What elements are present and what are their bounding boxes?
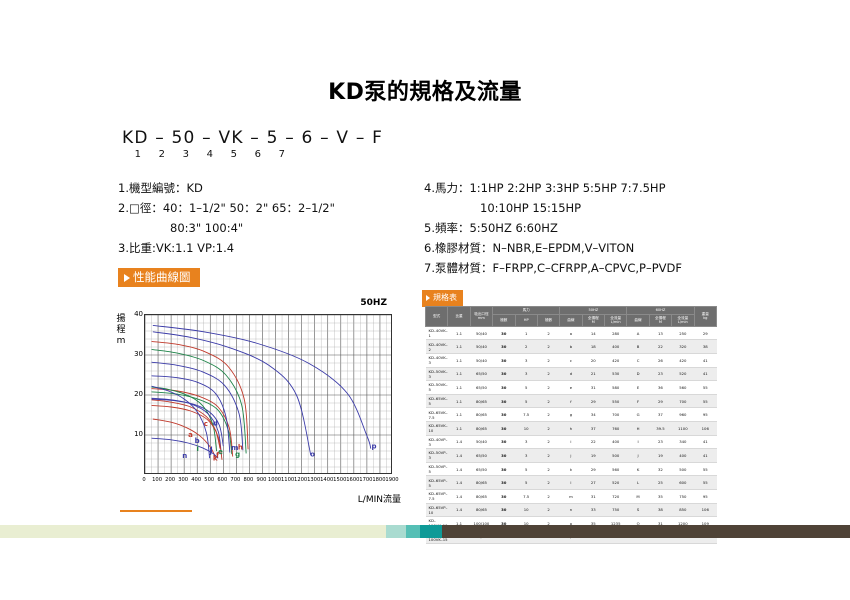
spec-cell: K xyxy=(627,462,649,476)
chart-curve-h xyxy=(152,341,249,449)
spec-cell: 38 xyxy=(649,503,671,517)
spec-cell: 55 xyxy=(694,394,717,408)
x-tick-label: 1000 xyxy=(268,477,282,483)
model-digit: 2 xyxy=(150,149,174,160)
spec-cell: 2 xyxy=(537,367,559,381)
spec-cell: 65/50 xyxy=(470,367,492,381)
curve-label-p: p xyxy=(371,443,376,451)
spec-cell: 340 xyxy=(672,435,694,449)
spec-cell: 400 xyxy=(672,449,694,463)
curve-label-o: o xyxy=(310,451,315,459)
spec-cell: 55 xyxy=(694,476,717,490)
curve-label-n: n xyxy=(182,452,187,460)
spec-subheader-cell: 曲線 xyxy=(560,314,582,326)
y-axis-title-char: 揚 xyxy=(115,314,127,325)
spec-cell: 1.1 xyxy=(448,353,470,367)
x-tick-label: 1900 xyxy=(385,477,399,483)
model-digit: 4 xyxy=(198,149,222,160)
model-digit: 1 xyxy=(126,149,150,160)
curve-label-i: i xyxy=(197,445,199,453)
curve-label-m: m xyxy=(231,444,238,452)
spec-subheader-cell: HP xyxy=(515,314,537,326)
spec-cell: 5 xyxy=(515,381,537,395)
spec-cell: 960 xyxy=(672,408,694,422)
model-digit: 6 xyxy=(246,149,270,160)
spec-cell: 35 xyxy=(649,489,671,503)
spec-cell: 400 xyxy=(605,340,627,354)
spec-cell: 21 xyxy=(582,367,604,381)
curve-label-h: h xyxy=(238,443,243,451)
spec-cell: a xyxy=(560,326,582,340)
spec-cell: 22 xyxy=(582,435,604,449)
footer-bar-teal-mid xyxy=(406,525,420,538)
spec-cell: KD–50VP–3 xyxy=(426,449,448,463)
curve-label-a: a xyxy=(188,431,193,439)
curve-label-d: d xyxy=(213,419,218,427)
spec-cell: KD–40VK–1 xyxy=(426,326,448,340)
x-tick-label: 500 xyxy=(202,477,216,483)
spec-cell: 2 xyxy=(537,503,559,517)
spec-header-cell: 型式 xyxy=(426,307,448,327)
spec-cell: d xyxy=(560,367,582,381)
x-tick-label: 0 xyxy=(137,477,151,483)
spec-cell: 1100 xyxy=(672,421,694,435)
play-triangle-icon xyxy=(124,274,130,282)
x-tick-label: 1600 xyxy=(346,477,360,483)
spec-cell: 27 xyxy=(582,476,604,490)
spec-cell: 520 xyxy=(672,367,694,381)
spec-cell: 2 xyxy=(537,394,559,408)
spec-cell: 720 xyxy=(605,489,627,503)
y-tick-label: 40 xyxy=(134,310,143,318)
curve-label-k: k xyxy=(213,455,218,463)
legend-left-line-2: 2.□徑：40：1–1/2" 50：2" 65：2–1/2" xyxy=(118,198,418,218)
table-row: KD–65VP–7.51.480/65307.52m31720M3575095 xyxy=(426,489,717,503)
spec-cell: i xyxy=(560,435,582,449)
spec-cell: 22 xyxy=(649,340,671,354)
spec-cell: KD–65VP–7.5 xyxy=(426,489,448,503)
spec-cell: A xyxy=(627,326,649,340)
spec-subheader-cell: 全揚程M xyxy=(649,314,671,326)
spec-cell: 5 xyxy=(515,394,537,408)
curve-label-b: b xyxy=(195,437,200,445)
spec-cell: 530 xyxy=(605,367,627,381)
spec-table-badge[interactable]: 規格表 xyxy=(422,290,463,307)
table-row: KD–50VP–51.465/503052k29560K3250055 xyxy=(426,462,717,476)
spec-cell: 2 xyxy=(537,462,559,476)
spec-cell: 26 xyxy=(649,353,671,367)
spec-cell: 30 xyxy=(493,381,515,395)
spec-cell: 10 xyxy=(515,503,537,517)
x-tick-label: 1200 xyxy=(294,477,308,483)
spec-cell: 50/40 xyxy=(470,326,492,340)
spec-cell: M xyxy=(627,489,649,503)
spec-cell: 65/50 xyxy=(470,449,492,463)
spec-cell: 80/65 xyxy=(470,421,492,435)
footer-decorative-bar xyxy=(0,525,850,538)
spec-header-cell: 比重 xyxy=(448,307,470,327)
spec-header-cell: 60HZ xyxy=(627,307,694,315)
spec-cell: 30 xyxy=(493,476,515,490)
chart-y-axis-title: 揚程m xyxy=(115,314,127,347)
spec-cell: 500 xyxy=(672,462,694,476)
spec-cell: 80/65 xyxy=(470,476,492,490)
table-row: KD–40VK–31.150/403032c20420C2642041 xyxy=(426,353,717,367)
x-tick-label: 1400 xyxy=(320,477,334,483)
spec-cell: E xyxy=(627,381,649,395)
spec-cell: 1.4 xyxy=(448,462,470,476)
spec-cell: 106 xyxy=(694,503,717,517)
y-axis-title-char: 程 xyxy=(115,325,127,336)
spec-cell: 29 xyxy=(694,326,717,340)
spec-cell: 250 xyxy=(672,326,694,340)
x-tick-label: 900 xyxy=(254,477,268,483)
model-code: KD – 50 – VK – 5 – 6 – V – F xyxy=(122,128,383,148)
spec-cell: n xyxy=(560,503,582,517)
spec-cell: 320 xyxy=(672,340,694,354)
spec-cell: KD–65VK–5 xyxy=(426,394,448,408)
spec-cell: D xyxy=(627,367,649,381)
spec-cell: 850 xyxy=(672,503,694,517)
spec-cell: 2 xyxy=(537,340,559,354)
spec-cell: 30 xyxy=(493,449,515,463)
model-digit: 3 xyxy=(174,149,198,160)
spec-cell: 30 xyxy=(493,421,515,435)
spec-cell: 80/65 xyxy=(470,489,492,503)
spec-table-container: 型式比重吸出口徑mm馬力50HZ60HZ重量kg 極數HP極數曲線全揚程M全流量… xyxy=(425,306,717,544)
spec-cell: 550 xyxy=(605,394,627,408)
legend-left-line-3: 80:3" 100:4" xyxy=(118,218,418,238)
spec-cell: 30 xyxy=(493,408,515,422)
performance-curve-badge[interactable]: 性能曲線圖 xyxy=(118,268,200,287)
spec-cell: 1.1 xyxy=(448,381,470,395)
spec-cell: e xyxy=(560,381,582,395)
spec-cell: 41 xyxy=(694,367,717,381)
spec-cell: 37 xyxy=(582,421,604,435)
spec-cell: 30 xyxy=(493,489,515,503)
performance-chart: 50HZ 揚程m 10203040 abcdefghijklmnop 01002… xyxy=(115,296,405,526)
spec-cell: 29 xyxy=(649,394,671,408)
spec-cell: 750 xyxy=(605,503,627,517)
spec-cell: 3 xyxy=(515,367,537,381)
spec-cell: 3 xyxy=(515,353,537,367)
spec-cell: 13 xyxy=(649,326,671,340)
y-tick-label: 30 xyxy=(134,350,143,358)
table-row: KD–50VK–51.165/503052e31580E3656055 xyxy=(426,381,717,395)
spec-header-cell: 吸出口徑mm xyxy=(470,307,492,327)
spec-cell: 30 xyxy=(493,353,515,367)
table-row: KD–40VK–11.150/403012a14280A1325029 xyxy=(426,326,717,340)
spec-cell: KD–40VK–2 xyxy=(426,340,448,354)
x-tick-label: 800 xyxy=(241,477,255,483)
spec-cell: 39.5 xyxy=(649,421,671,435)
spec-cell: 1.4 xyxy=(448,489,470,503)
spec-cell: I xyxy=(627,435,649,449)
spec-cell: KD–65VK–10 xyxy=(426,421,448,435)
legend-left-line-4: 3.比重:VK:1.1 VP:1.4 xyxy=(118,238,418,258)
spec-header-cell: 重量kg xyxy=(694,307,717,327)
spec-cell: KD–65VK–7.5 xyxy=(426,408,448,422)
spec-cell: 36 xyxy=(649,381,671,395)
spec-cell: 33 xyxy=(582,503,604,517)
curve-label-l: l xyxy=(210,446,212,454)
spec-cell: 25 xyxy=(649,476,671,490)
spec-subheader-cell: 曲線 xyxy=(627,314,649,326)
page-title: KD泵的規格及流量 xyxy=(0,74,850,106)
spec-cell: L xyxy=(627,476,649,490)
table-row: KD–50VK–31.165/503032d21530D2352041 xyxy=(426,367,717,381)
spec-cell: 2 xyxy=(537,449,559,463)
spec-cell: h xyxy=(560,421,582,435)
spec-cell: 420 xyxy=(605,353,627,367)
spec-cell: l xyxy=(560,476,582,490)
spec-cell: 2 xyxy=(537,435,559,449)
footer-bar-brown xyxy=(442,525,850,538)
spec-cell: 32 xyxy=(649,462,671,476)
spec-cell: 750 xyxy=(672,489,694,503)
spec-cell: 23 xyxy=(649,367,671,381)
spec-cell: KD–50VP–5 xyxy=(426,462,448,476)
spec-cell: F xyxy=(627,394,649,408)
spec-cell: 50/40 xyxy=(470,353,492,367)
spec-cell: 19 xyxy=(582,449,604,463)
spec-cell: 29 xyxy=(582,394,604,408)
spec-cell: 38 xyxy=(694,340,717,354)
chart-curve-c xyxy=(152,400,221,449)
spec-cell: 1.4 xyxy=(448,476,470,490)
spec-cell: 80/65 xyxy=(470,408,492,422)
spec-cell: 106 xyxy=(694,421,717,435)
spec-cell: 700 xyxy=(672,394,694,408)
spec-cell: KD–65VP–10 xyxy=(426,503,448,517)
spec-cell: 520 xyxy=(605,476,627,490)
x-tick-label: 200 xyxy=(163,477,177,483)
spec-cell: 500 xyxy=(605,449,627,463)
spec-cell: 50/40 xyxy=(470,435,492,449)
chart-curve-o xyxy=(153,332,311,455)
spec-cell: 30 xyxy=(493,394,515,408)
spec-cell: 1 xyxy=(515,326,537,340)
spec-cell: 30 xyxy=(493,435,515,449)
spec-cell: 29 xyxy=(582,462,604,476)
spec-cell: 80/65 xyxy=(470,503,492,517)
spec-cell: 7.5 xyxy=(515,408,537,422)
spec-cell: 1.1 xyxy=(448,367,470,381)
table-row: KD–50VP–31.465/503032j19500J1940041 xyxy=(426,449,717,463)
table-row: KD–65VK–51.180/653052f29550F2970055 xyxy=(426,394,717,408)
spec-cell: 19 xyxy=(649,449,671,463)
x-tick-label: 1300 xyxy=(307,477,321,483)
slide-root: KD泵的規格及流量 KD – 50 – VK – 5 – 6 – V – F 1… xyxy=(0,0,850,600)
spec-cell: 580 xyxy=(605,381,627,395)
spec-cell: 95 xyxy=(694,408,717,422)
spec-cell: 420 xyxy=(672,353,694,367)
spec-cell: 1.4 xyxy=(448,503,470,517)
spec-cell: c xyxy=(560,353,582,367)
spec-table-header-row-1: 型式比重吸出口徑mm馬力50HZ60HZ重量kg xyxy=(426,307,717,315)
spec-cell: B xyxy=(627,340,649,354)
x-tick-label: 1800 xyxy=(372,477,386,483)
legend-right-line-3: 5.頻率：5:50HZ 6:60HZ xyxy=(424,218,734,238)
spec-cell: 2 xyxy=(537,421,559,435)
spec-cell: 700 xyxy=(605,408,627,422)
spec-table-badge-label: 規格表 xyxy=(433,293,457,302)
spec-cell: 50/40 xyxy=(470,340,492,354)
legend-left-line-1: 1.機型編號：KD xyxy=(118,178,418,198)
spec-subheader-cell: 全揚程M xyxy=(582,314,604,326)
model-digit: 7 xyxy=(270,149,294,160)
spec-cell: H xyxy=(627,421,649,435)
x-tick-label: 1500 xyxy=(333,477,347,483)
spec-cell: J xyxy=(627,449,649,463)
y-axis-title-char: m xyxy=(115,336,127,347)
spec-cell: 55 xyxy=(694,462,717,476)
y-tick-label: 20 xyxy=(134,390,143,398)
spec-cell: 31 xyxy=(582,381,604,395)
x-tick-label: 1100 xyxy=(281,477,295,483)
model-code-block: KD – 50 – VK – 5 – 6 – V – F 1234567 xyxy=(122,128,383,160)
spec-cell: 30 xyxy=(493,367,515,381)
x-tick-label: 600 xyxy=(215,477,229,483)
legend-right-line-4: 6.橡膠材質：N–NBR,E–EPDM,V–VITON xyxy=(424,238,734,258)
spec-cell: g xyxy=(560,408,582,422)
spec-cell: KD–40VK–3 xyxy=(426,353,448,367)
table-row: KD–65VK–101.180/6530102h37760H39.5110010… xyxy=(426,421,717,435)
spec-cell: 41 xyxy=(694,449,717,463)
table-row: KD–65VK–7.51.180/65307.52g34700G3796095 xyxy=(426,408,717,422)
spec-cell: 2 xyxy=(537,408,559,422)
play-triangle-icon-small xyxy=(426,295,430,301)
spec-cell: 1.1 xyxy=(448,340,470,354)
spec-cell: KD–50VK–3 xyxy=(426,367,448,381)
table-row: KD–65VP–101.480/6530102n33750S38850106 xyxy=(426,503,717,517)
spec-cell: 1.4 xyxy=(448,449,470,463)
spec-cell: 5 xyxy=(515,462,537,476)
spec-cell: 23 xyxy=(649,435,671,449)
spec-header-cell: 馬力 xyxy=(493,307,560,315)
spec-cell: 7.5 xyxy=(515,489,537,503)
spec-cell: 600 xyxy=(672,476,694,490)
footer-bar-teal-dark xyxy=(420,525,442,538)
legend-right-line-2: 10:10HP 15:15HP xyxy=(424,198,734,218)
spec-cell: 65/50 xyxy=(470,381,492,395)
table-row: KD–40VP–31.450/403032i22400I2334041 xyxy=(426,435,717,449)
spec-subheader-cell: 極數 xyxy=(493,314,515,326)
spec-cell: 95 xyxy=(694,489,717,503)
model-digit: 5 xyxy=(222,149,246,160)
spec-cell: 2 xyxy=(537,353,559,367)
spec-cell: j xyxy=(560,449,582,463)
spec-cell: 400 xyxy=(605,435,627,449)
spec-cell: 18 xyxy=(582,340,604,354)
spec-cell: KD–65VP–5 xyxy=(426,476,448,490)
spec-cell: k xyxy=(560,462,582,476)
spec-cell: 80/65 xyxy=(470,394,492,408)
curve-label-c: c xyxy=(204,420,208,428)
spec-cell: 55 xyxy=(694,381,717,395)
spec-cell: 2 xyxy=(537,476,559,490)
footer-bar-pale xyxy=(0,525,386,538)
spec-cell: 30 xyxy=(493,503,515,517)
spec-cell: 30 xyxy=(493,462,515,476)
chart-x-ticks: 0100200300400500600700800900100011001200… xyxy=(135,477,405,489)
spec-cell: m xyxy=(560,489,582,503)
chart-curves-svg: abcdefghijklmnop xyxy=(145,315,392,474)
spec-cell: 14 xyxy=(582,326,604,340)
spec-cell: 41 xyxy=(694,353,717,367)
spec-cell: 2 xyxy=(537,489,559,503)
spec-cell: KD–40VP–3 xyxy=(426,435,448,449)
spec-cell: 31 xyxy=(582,489,604,503)
spec-subheader-cell: 極數 xyxy=(537,314,559,326)
spec-cell: 1.4 xyxy=(448,435,470,449)
spec-cell: 1.1 xyxy=(448,421,470,435)
performance-curve-badge-label: 性能曲線圖 xyxy=(133,270,191,284)
spec-legend-left: 1.機型編號：KD 2.□徑：40：1–1/2" 50：2" 65：2–1/2"… xyxy=(118,178,418,258)
spec-cell: 65/50 xyxy=(470,462,492,476)
spec-cell: KD–50VK–5 xyxy=(426,381,448,395)
chart-frequency-label: 50HZ xyxy=(360,298,387,308)
spec-cell: 34 xyxy=(582,408,604,422)
spec-cell: 3 xyxy=(515,435,537,449)
spec-cell: 41 xyxy=(694,435,717,449)
spec-cell: 280 xyxy=(605,326,627,340)
chart-underline-accent xyxy=(120,510,192,512)
spec-subheader-cell: 全流量L/min xyxy=(605,314,627,326)
table-row: KD–65VP–51.480/653052l27520L2560055 xyxy=(426,476,717,490)
spec-cell: 2 xyxy=(537,326,559,340)
chart-plot-area: abcdefghijklmnop xyxy=(144,314,392,474)
x-tick-label: 400 xyxy=(189,477,203,483)
spec-cell: 1.1 xyxy=(448,326,470,340)
spec-cell: 1.1 xyxy=(448,408,470,422)
x-tick-label: 700 xyxy=(228,477,242,483)
spec-subheader-cell: 全流量L/min xyxy=(672,314,694,326)
x-tick-label: 300 xyxy=(176,477,190,483)
spec-cell: b xyxy=(560,340,582,354)
spec-table-head: 型式比重吸出口徑mm馬力50HZ60HZ重量kg 極數HP極數曲線全揚程M全流量… xyxy=(426,307,717,327)
spec-cell: 1.1 xyxy=(448,394,470,408)
spec-cell: f xyxy=(560,394,582,408)
spec-cell: 30 xyxy=(493,340,515,354)
spec-cell: 560 xyxy=(605,462,627,476)
table-row: KD–40VK–21.150/403022b18400B2232038 xyxy=(426,340,717,354)
x-tick-label: 1700 xyxy=(359,477,373,483)
spec-cell: 5 xyxy=(515,476,537,490)
spec-cell: G xyxy=(627,408,649,422)
legend-right-line-1: 4.馬力：1:1HP 2:2HP 3:3HP 5:5HP 7:7.5HP xyxy=(424,178,734,198)
spec-cell: 2 xyxy=(537,381,559,395)
spec-header-cell: 50HZ xyxy=(560,307,627,315)
spec-cell: 10 xyxy=(515,421,537,435)
spec-cell: 20 xyxy=(582,353,604,367)
spec-legend-right: 4.馬力：1:1HP 2:2HP 3:3HP 5:5HP 7:7.5HP 10:… xyxy=(424,178,734,278)
spec-cell: C xyxy=(627,353,649,367)
spec-cell: 760 xyxy=(605,421,627,435)
chart-y-ticks: 10203040 xyxy=(127,310,143,478)
x-tick-label: 100 xyxy=(150,477,164,483)
spec-table-body: KD–40VK–11.150/403012a14280A1325029KD–40… xyxy=(426,326,717,544)
spec-table: 型式比重吸出口徑mm馬力50HZ60HZ重量kg 極數HP極數曲線全揚程M全流量… xyxy=(425,306,717,544)
y-tick-label: 10 xyxy=(134,430,143,438)
model-code-digits: 1234567 xyxy=(122,149,383,160)
spec-cell: 37 xyxy=(649,408,671,422)
chart-x-axis-title: L/MIN流量 xyxy=(358,492,401,505)
spec-cell: 2 xyxy=(515,340,537,354)
spec-cell: S xyxy=(627,503,649,517)
spec-cell: 30 xyxy=(493,326,515,340)
spec-cell: 3 xyxy=(515,449,537,463)
